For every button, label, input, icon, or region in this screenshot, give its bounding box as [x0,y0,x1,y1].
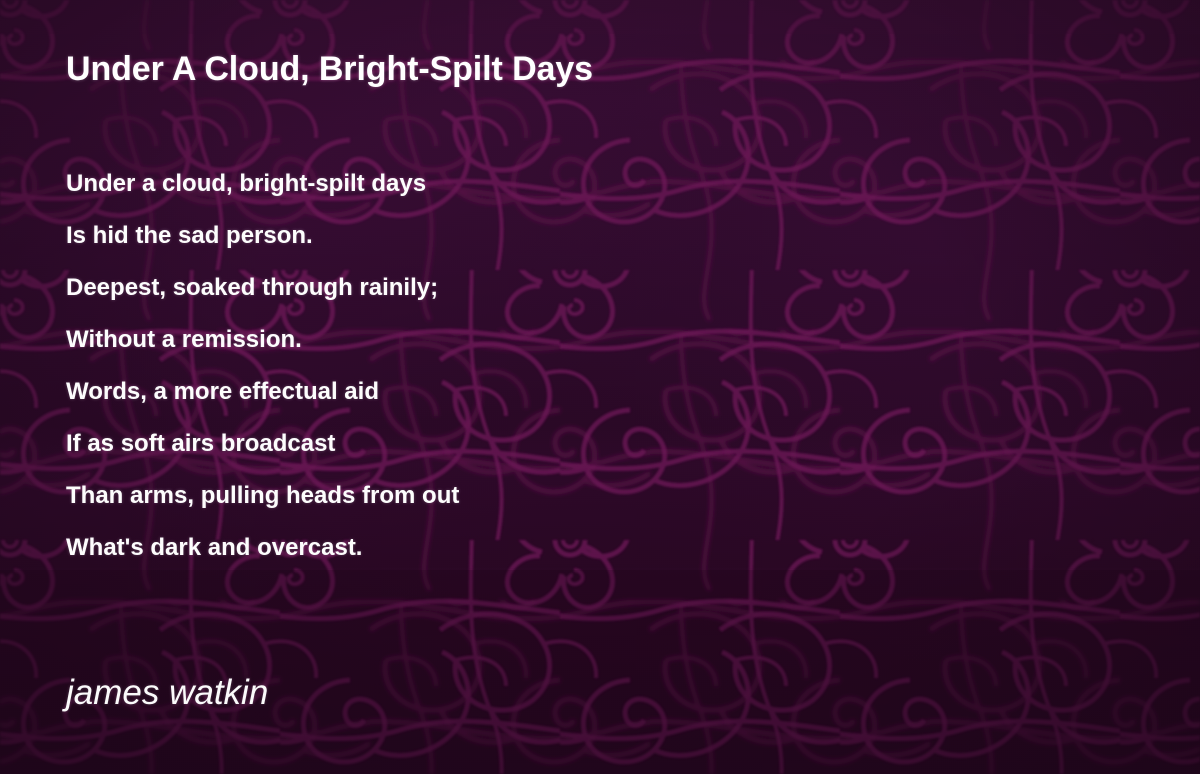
poem-line: Than arms, pulling heads from out [66,470,1116,522]
poem-image-canvas: Under A Cloud, Bright-Spilt Days Under a… [0,0,1200,774]
poem-title: Under A Cloud, Bright-Spilt Days [66,50,593,89]
poem-author-name: james watkin [66,673,268,713]
poem-line: What's dark and overcast. [66,522,1116,574]
poem-line: Without a remission. [66,314,1116,366]
poem-content: Under A Cloud, Bright-Spilt Days Under a… [0,0,1200,774]
poem-line: Under a cloud, bright-spilt days [66,158,1116,210]
poem-body: Under a cloud, bright-spilt days Is hid … [66,158,1116,574]
poem-line: Deepest, soaked through rainily; [66,262,1116,314]
poem-line: Is hid the sad person. [66,210,1116,262]
poem-line: Words, a more effectual aid [66,366,1116,418]
poem-line: If as soft airs broadcast [66,418,1116,470]
